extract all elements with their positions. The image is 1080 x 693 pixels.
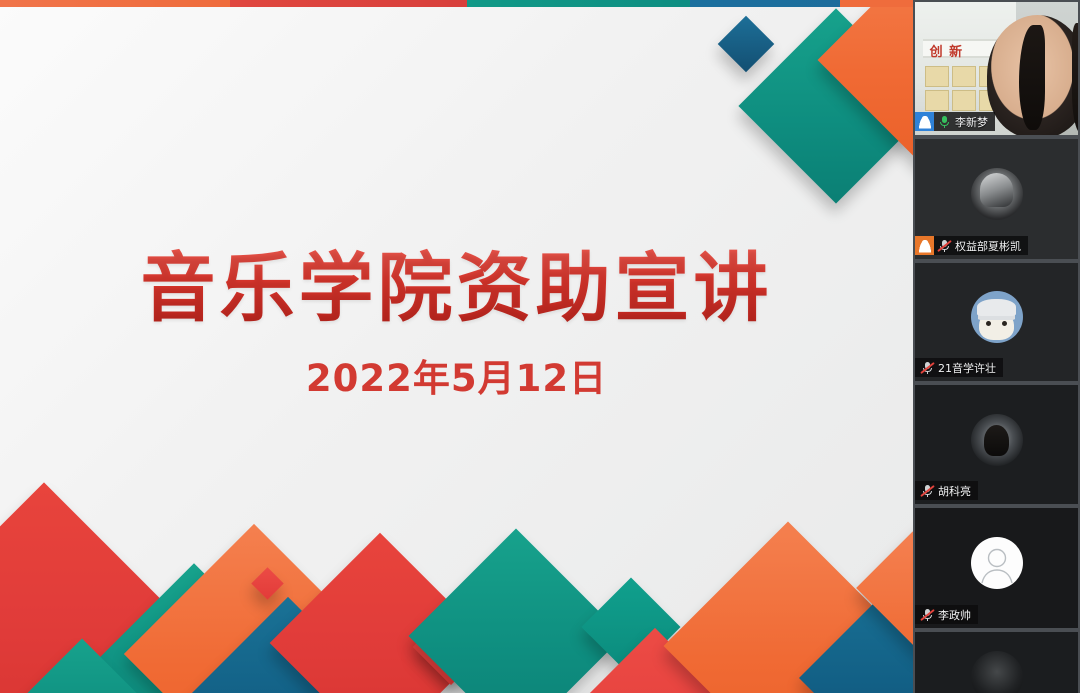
participant-filmstrip[interactable]: 创 新 李新梦 bbox=[913, 0, 1080, 693]
slide-title-block: 音乐学院资助宣讲 2022年5月12日 bbox=[0, 246, 913, 402]
rule-segment-teal bbox=[467, 0, 690, 7]
shared-slide: 音乐学院资助宣讲 2022年5月12日 bbox=[0, 0, 913, 693]
avatar bbox=[971, 414, 1023, 466]
speaker-hair-right bbox=[1072, 23, 1078, 133]
rule-segment-blue bbox=[690, 0, 840, 7]
default-user-icon bbox=[971, 537, 1023, 589]
participant-tile[interactable]: 创 新 李新梦 bbox=[915, 2, 1078, 135]
speaker-face bbox=[987, 15, 1078, 135]
microphone-muted-icon[interactable] bbox=[921, 361, 934, 375]
participant-name: 李新梦 bbox=[955, 114, 988, 130]
slide-top-color-rule bbox=[0, 0, 913, 7]
participant-name: 权益部夏彬凯 bbox=[955, 238, 1021, 254]
decor-diamond-teal-2 bbox=[409, 529, 624, 693]
participant-icon-orange bbox=[915, 236, 934, 255]
avatar bbox=[971, 537, 1023, 589]
participant-tile[interactable]: 21音学许壮 bbox=[915, 263, 1078, 381]
microphone-icon[interactable] bbox=[938, 115, 951, 129]
classroom-banner-text: 创 新 bbox=[930, 41, 964, 60]
rule-segment-tail bbox=[840, 0, 913, 7]
participant-name-bar: 胡科亮 bbox=[915, 481, 978, 500]
participant-name: 胡科亮 bbox=[938, 483, 971, 499]
participant-tile[interactable]: 胡科亮 bbox=[915, 385, 1078, 504]
microphone-muted-icon[interactable] bbox=[938, 239, 951, 253]
participant-name-bar: 21音学许壮 bbox=[915, 358, 1003, 377]
microphone-muted-icon[interactable] bbox=[921, 608, 934, 622]
speaker-hair-left bbox=[1019, 25, 1045, 130]
slide-date: 2022年5月12日 bbox=[0, 348, 913, 402]
participant-name-bar: 李政帅 bbox=[915, 605, 978, 624]
slide-title: 音乐学院资助宣讲 bbox=[0, 246, 913, 330]
participant-tile[interactable]: 权益部夏彬凯 bbox=[915, 139, 1078, 259]
participant-icon-blue bbox=[915, 112, 934, 131]
rule-segment-red bbox=[230, 0, 467, 7]
participant-name: 李政帅 bbox=[938, 607, 971, 623]
participant-tile[interactable]: 李政帅 bbox=[915, 508, 1078, 628]
decor-diamond-blue-small bbox=[718, 16, 775, 73]
avatar bbox=[971, 291, 1023, 343]
rule-segment-orange bbox=[0, 0, 230, 7]
participant-name: 21音学许壮 bbox=[938, 360, 996, 376]
avatar bbox=[971, 168, 1023, 220]
microphone-muted-icon[interactable] bbox=[921, 484, 934, 498]
participant-tile[interactable] bbox=[915, 632, 1078, 693]
participant-name-bar: 权益部夏彬凯 bbox=[915, 236, 1028, 255]
participant-name-bar: 李新梦 bbox=[915, 112, 995, 131]
screen-share-meeting-view: 音乐学院资助宣讲 2022年5月12日 创 新 bbox=[0, 0, 1080, 693]
